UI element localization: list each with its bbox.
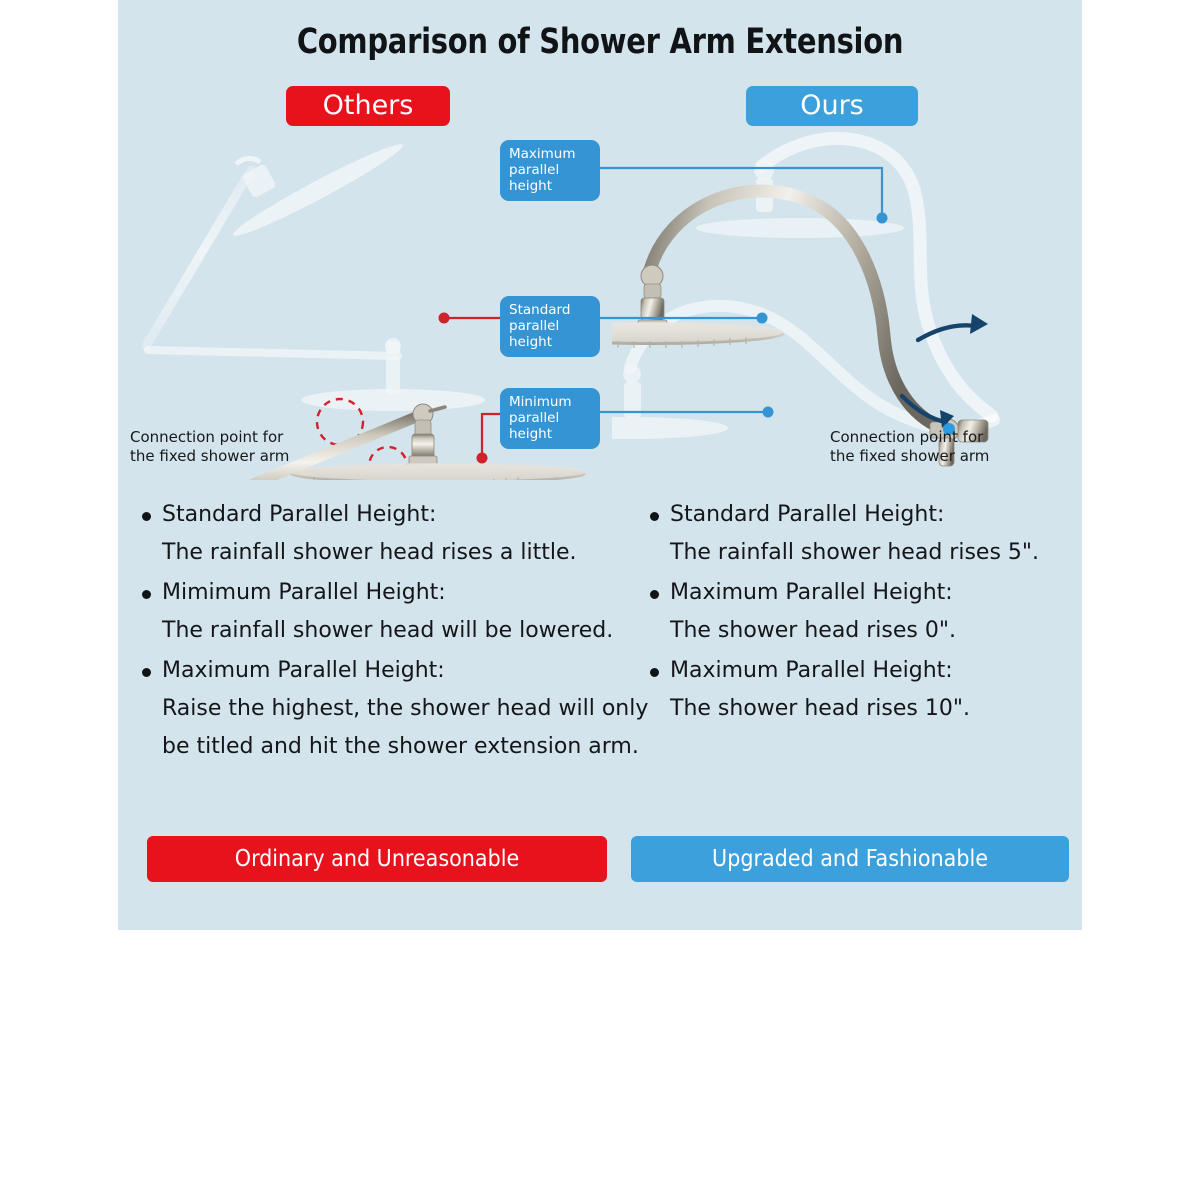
ours-feature-list: Standard Parallel Height: The rainfall s… xyxy=(648,496,1078,730)
feature-heading-label: Standard Parallel Height: xyxy=(670,502,944,527)
feature-heading-label: Mimimum Parallel Height: xyxy=(162,580,446,605)
bullet-icon xyxy=(650,512,659,521)
bullet-icon xyxy=(650,668,659,677)
feature-body: The rainfall shower head will be lowered… xyxy=(140,612,660,650)
ghost-arm-raised xyxy=(146,137,407,346)
page-title: Comparison of Shower Arm Extension xyxy=(157,22,1044,62)
feature-heading: Standard Parallel Height: xyxy=(140,496,660,534)
list-item: Maximum Parallel Height: Raise the highe… xyxy=(140,652,660,766)
list-item: Maximum Parallel Height: The shower head… xyxy=(648,652,1078,728)
ghost-arm-lowered xyxy=(148,338,485,411)
feature-body: The shower head rises 0". xyxy=(648,612,1078,650)
infographic-panel: Comparison of Shower Arm Extension Other… xyxy=(118,0,1082,930)
badge-ours: Ours xyxy=(746,86,918,126)
bullet-icon xyxy=(142,512,151,521)
feature-heading: Maximum Parallel Height: xyxy=(648,574,1078,612)
callout-minimum-parallel-height: Minimum parallel height xyxy=(500,388,600,449)
feature-body: The rainfall shower head rises a little. xyxy=(140,534,660,572)
feature-heading: Maximum Parallel Height: xyxy=(140,652,660,690)
list-item: Mimimum Parallel Height: The rainfall sh… xyxy=(140,574,660,650)
connection-caption-right: Connection point for the fixed shower ar… xyxy=(830,428,989,466)
others-feature-list: Standard Parallel Height: The rainfall s… xyxy=(140,496,660,768)
bullet-icon xyxy=(142,590,151,599)
list-item: Maximum Parallel Height: The shower head… xyxy=(648,574,1078,650)
feature-body: The shower head rises 10". xyxy=(648,690,1078,728)
badge-others: Others xyxy=(286,86,450,126)
connection-caption-left: Connection point for the fixed shower ar… xyxy=(130,428,289,466)
feature-heading-label: Maximum Parallel Height: xyxy=(670,580,953,605)
feature-heading-label: Standard Parallel Height: xyxy=(162,502,436,527)
feature-body: Raise the highest, the shower head will … xyxy=(140,690,660,766)
feature-lists: Standard Parallel Height: The rainfall s… xyxy=(118,496,1082,816)
feature-body: The rainfall shower head rises 5". xyxy=(648,534,1078,572)
feature-heading: Mimimum Parallel Height: xyxy=(140,574,660,612)
list-item: Standard Parallel Height: The rainfall s… xyxy=(648,496,1078,572)
callout-maximum-parallel-height: Maximum parallel height xyxy=(500,140,600,201)
feature-heading-label: Maximum Parallel Height: xyxy=(162,658,445,683)
feature-heading-label: Maximum Parallel Height: xyxy=(670,658,953,683)
bullet-icon xyxy=(142,668,151,677)
illustration-stage: Maximum parallel height Standard paralle… xyxy=(118,128,1082,480)
banner-ordinary-unreasonable: Ordinary and Unreasonable xyxy=(147,836,607,882)
list-item: Standard Parallel Height: The rainfall s… xyxy=(140,496,660,572)
bullet-icon xyxy=(650,590,659,599)
banner-upgraded-fashionable: Upgraded and Fashionable xyxy=(631,836,1069,882)
feature-heading: Standard Parallel Height: xyxy=(648,496,1078,534)
feature-heading: Maximum Parallel Height: xyxy=(648,652,1078,690)
callout-standard-parallel-height: Standard parallel height xyxy=(500,296,600,357)
